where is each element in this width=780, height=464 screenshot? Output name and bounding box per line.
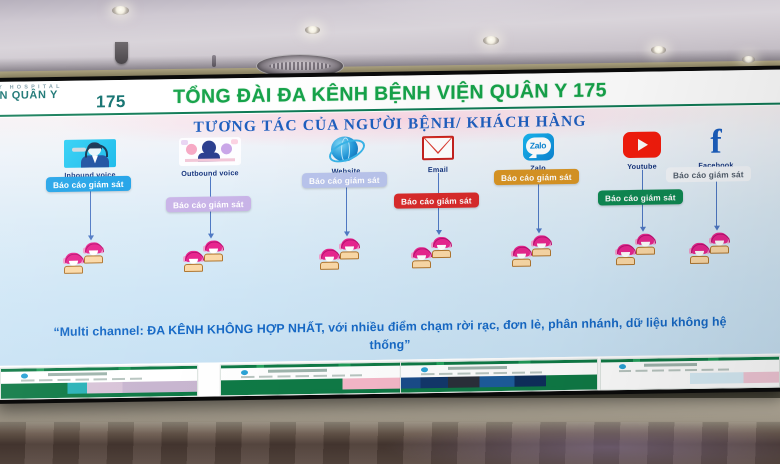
call-agent-avatar	[532, 235, 551, 256]
call-agent-avatar	[84, 242, 103, 263]
facebook-icon: f	[703, 130, 729, 157]
connector-arrow	[344, 231, 350, 236]
connector-arrow	[88, 235, 94, 240]
call-agent-avatar	[432, 237, 451, 258]
channel-facebook[interactable]: fFacebook	[668, 128, 764, 171]
ceiling-light	[483, 36, 499, 45]
report-badge[interactable]: Báo cáo giám sát	[666, 166, 751, 182]
website-thumbnail	[0, 365, 198, 400]
slide-body: TƯƠNG TÁC CỦA NGƯỜI BỆNH/ KHÁCH HÀNG Inb…	[0, 106, 780, 366]
channel-website[interactable]: Website	[298, 134, 394, 177]
presentation-slide: ARY HOSPITAL VIỆN QUÂN Y 175 TỔNG ĐÀI ĐA…	[0, 70, 780, 400]
channel-outbound-voice[interactable]: Outbound voice	[162, 136, 258, 179]
gmail-icon	[422, 136, 454, 161]
call-agent-avatar	[690, 243, 709, 264]
call-agent-avatar	[636, 234, 655, 255]
channel-inbound-voice[interactable]: Inbound voice	[42, 138, 138, 181]
zalo-icon: Zalo	[523, 133, 554, 160]
report-badge[interactable]: Báo cáo giám sát	[598, 189, 683, 205]
report-badge[interactable]: Báo cáo giám sát	[494, 169, 579, 185]
ceiling-light	[112, 6, 129, 15]
youtube-icon	[623, 132, 661, 159]
photo-scene: ARY HOSPITAL VIỆN QUÂN Y 175 TỔNG ĐÀI ĐA…	[0, 0, 780, 464]
connector-arrow	[714, 226, 720, 231]
call-agent-avatar	[412, 247, 431, 268]
report-badge[interactable]: Báo cáo giám sát	[166, 196, 251, 212]
call-agent-avatar	[64, 253, 83, 274]
headset-agent-icon	[64, 139, 116, 168]
ceiling-light	[651, 46, 666, 54]
website-thumbnail	[220, 361, 418, 396]
website-thumbnail	[400, 359, 598, 394]
room-lower-wall	[0, 398, 780, 464]
website-thumbnail	[600, 356, 780, 391]
call-agent-avatar	[320, 249, 339, 270]
call-agent-avatar	[616, 244, 635, 265]
call-agent-avatar	[710, 232, 729, 253]
report-badge[interactable]: Báo cáo giám sát	[46, 176, 131, 192]
ceiling-light	[305, 26, 320, 34]
globe-icon	[329, 135, 363, 164]
report-badge[interactable]: Báo cáo giám sát	[394, 192, 479, 208]
report-badge[interactable]: Báo cáo giám sát	[302, 172, 387, 188]
slide-quote: “Multi channel: ĐA KÊNH KHÔNG HỢP NHẤT, …	[53, 314, 727, 359]
channel-zalo[interactable]: ZaloZalo	[490, 131, 586, 174]
outbound-call-icon	[179, 137, 241, 166]
connector-arrow	[436, 230, 442, 235]
call-agent-avatar	[184, 251, 203, 272]
ceiling-speaker	[115, 42, 128, 64]
ceiling-light	[742, 56, 755, 63]
connector-arrow	[208, 234, 214, 239]
call-agent-avatar	[340, 238, 359, 259]
call-agent-avatar	[204, 240, 223, 261]
sprinkler-head	[212, 55, 216, 67]
channel-email[interactable]: Email	[390, 132, 486, 175]
connector-arrow	[640, 227, 646, 232]
connector-arrow	[536, 228, 542, 233]
projector-screen: ARY HOSPITAL VIỆN QUÂN Y 175 TỔNG ĐÀI ĐA…	[0, 66, 780, 404]
call-agent-avatar	[512, 246, 531, 267]
